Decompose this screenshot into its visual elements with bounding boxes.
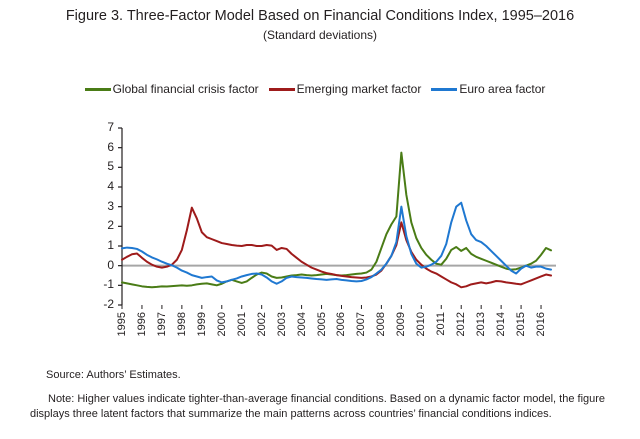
x-tick-label: 2001 bbox=[236, 312, 248, 336]
x-tick-label: 2015 bbox=[515, 312, 527, 336]
y-tick-label: -1 bbox=[90, 277, 114, 291]
x-tick-label: 2003 bbox=[276, 312, 288, 336]
y-tick-label: 4 bbox=[90, 179, 114, 193]
x-tick-label: 2007 bbox=[355, 312, 367, 336]
series-line bbox=[122, 203, 551, 284]
y-tick-label: -2 bbox=[90, 297, 114, 311]
series-line bbox=[122, 153, 551, 288]
x-tick-label: 2012 bbox=[455, 312, 467, 336]
x-tick-label: 2006 bbox=[335, 312, 347, 336]
x-tick-label: 2009 bbox=[395, 312, 407, 336]
source-note: Source: Authors’ Estimates. bbox=[46, 369, 181, 381]
y-tick-label: 3 bbox=[90, 199, 114, 213]
y-tick-label: 1 bbox=[90, 238, 114, 252]
y-tick-label: 0 bbox=[90, 258, 114, 272]
x-tick-label: 1996 bbox=[136, 312, 148, 336]
y-tick-label: 5 bbox=[90, 159, 114, 173]
x-tick-label: 1998 bbox=[176, 312, 188, 336]
x-tick-label: 2016 bbox=[535, 312, 547, 336]
y-tick-label: 7 bbox=[90, 120, 114, 134]
x-tick-label: 2000 bbox=[216, 312, 228, 336]
x-tick-label: 2002 bbox=[256, 312, 268, 336]
y-tick-label: 2 bbox=[90, 218, 114, 232]
x-tick-label: 2013 bbox=[475, 312, 487, 336]
x-tick-label: 1999 bbox=[196, 312, 208, 336]
x-tick-label: 1997 bbox=[156, 312, 168, 336]
x-tick-label: 2004 bbox=[296, 312, 308, 336]
x-tick-label: 2005 bbox=[316, 312, 328, 336]
x-tick-label: 2014 bbox=[495, 312, 507, 336]
x-tick-label: 2010 bbox=[415, 312, 427, 336]
x-tick-label: 2008 bbox=[375, 312, 387, 336]
figure-note: Note: Higher values indicate tighter-tha… bbox=[30, 392, 624, 422]
x-tick-label: 2011 bbox=[435, 312, 447, 336]
x-tick-label: 1995 bbox=[116, 312, 128, 336]
y-tick-label: 6 bbox=[90, 140, 114, 154]
